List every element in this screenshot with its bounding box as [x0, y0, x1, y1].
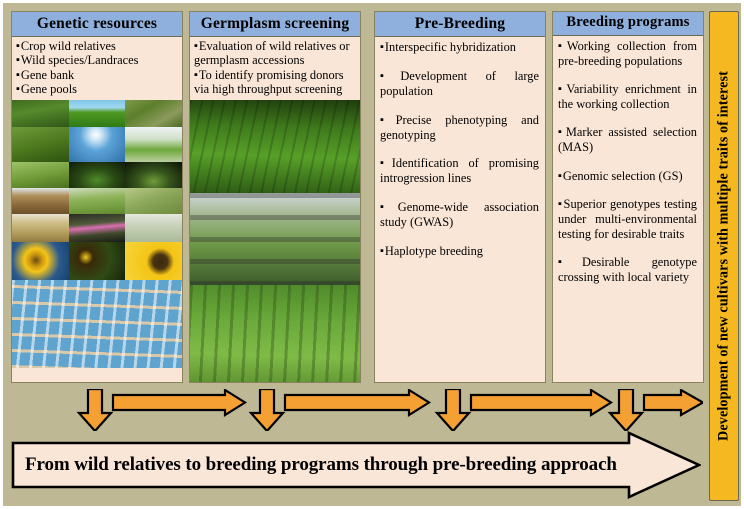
dry-seed-heap-photo — [12, 188, 69, 214]
right-arrow-icon — [113, 390, 245, 415]
panel-breeding-programs: Breeding programs Working collection fro… — [552, 11, 704, 383]
list-item: Gene pools — [16, 82, 178, 96]
flow-arrow-svg — [3, 389, 703, 431]
paddy-field-photo — [69, 100, 126, 127]
panel-pre-breeding: Pre-Breeding Interspecific hybridization… — [374, 11, 546, 383]
outcome-sidebar-text: Development of new cultivars with multip… — [716, 71, 733, 441]
photo-row — [12, 242, 182, 280]
outcome-sidebar: Development of new cultivars with multip… — [709, 11, 739, 501]
list-item: Wild species/Landraces — [16, 53, 178, 67]
sunflower-cluster-photo — [69, 242, 126, 280]
list-item: Crop wild relatives — [16, 39, 178, 53]
photo-row — [12, 162, 182, 188]
pre-breeding-workflow-figure: Genetic resources Crop wild relatives Wi… — [0, 0, 744, 509]
sugarcane-sun-photo — [69, 127, 126, 162]
photo-collage-germplasm-screening — [190, 100, 360, 382]
dark-grass-tussock-photo — [69, 162, 126, 188]
list-item: Gene bank — [16, 68, 178, 82]
wild-cereal-photo — [12, 127, 69, 162]
list-item: Genome-wide association study (GWAS) — [380, 200, 539, 230]
list-item: Working collection from pre-breeding pop… — [558, 39, 697, 68]
down-arrow-icon — [251, 389, 283, 431]
bullet-list-pre-breeding: Interspecific hybridization Development … — [380, 40, 539, 259]
seed-pile-photo — [12, 214, 69, 242]
list-item: Marker assisted selection (MAS) — [558, 125, 697, 154]
panel-genetic-resources: Genetic resources Crop wild relatives Wi… — [11, 11, 183, 383]
photo-row — [12, 214, 182, 242]
list-item: Genomic selection (GS) — [558, 169, 697, 184]
list-item: Identification of promising introgressio… — [380, 156, 539, 186]
list-item: Haplotype breeding — [380, 244, 539, 259]
rice-seedling-tray-photo — [125, 127, 182, 162]
sunflower-head-photo — [125, 242, 182, 280]
list-item: Development of large population — [380, 69, 539, 99]
night-grass-clump-photo — [125, 162, 182, 188]
bullet-list-genetic-resources: Crop wild relatives Wild species/Landrac… — [16, 39, 178, 97]
panel-title-breeding-programs: Breeding programs — [553, 12, 703, 36]
list-item: Evaluation of wild relatives or germplas… — [194, 39, 356, 68]
photo-row — [190, 285, 360, 382]
grass-field-photo — [12, 100, 69, 127]
panel-title-genetic-resources: Genetic resources — [12, 12, 182, 37]
panel-title-pre-breeding: Pre-Breeding — [375, 12, 545, 37]
list-item: Precise phenotyping and genotyping — [380, 113, 539, 143]
panel-body-breeding-programs: Working collection from pre-breeding pop… — [553, 36, 703, 382]
banner-text: From wild relatives to breeding programs… — [25, 431, 605, 499]
grass-field-rows-photo — [125, 188, 182, 214]
list-item: Desirable genotype crossing with local v… — [558, 255, 697, 284]
process-flow-arrows — [3, 389, 703, 431]
panel-body-germplasm-screening: Evaluation of wild relatives or germplas… — [190, 37, 360, 100]
pink-flower-night-photo — [69, 214, 126, 242]
young-crop-rows-field-photo — [190, 285, 360, 382]
summary-banner-arrow: From wild relatives to breeding programs… — [11, 431, 701, 499]
down-arrow-icon — [79, 389, 111, 431]
seedling-nursery-field-photo — [190, 100, 360, 193]
sunflower-single-photo — [12, 242, 69, 280]
down-arrow-icon — [437, 389, 469, 431]
list-item: Variability enrichment in the working co… — [558, 82, 697, 111]
down-arrow-icon — [610, 389, 642, 431]
greenhouse-seedling-trays-photo — [190, 193, 360, 285]
bullet-list-germplasm-screening: Evaluation of wild relatives or germplas… — [194, 39, 356, 97]
panel-germplasm-screening: Germplasm screening Evaluation of wild r… — [189, 11, 361, 383]
photo-row — [190, 193, 360, 285]
pale-grass-field-photo — [125, 214, 182, 242]
photo-row — [12, 127, 182, 162]
right-arrow-icon — [471, 390, 611, 415]
photo-row — [190, 100, 360, 193]
right-arrow-icon — [644, 390, 703, 415]
photo-row — [12, 100, 182, 127]
green-grass-clump-photo — [12, 162, 69, 188]
bullet-list-breeding-programs: Working collection from pre-breeding pop… — [558, 39, 697, 285]
list-item: To identify promising donors via high th… — [194, 68, 356, 97]
panel-body-pre-breeding: Interspecific hybridization Development … — [375, 37, 545, 382]
right-arrow-icon — [285, 390, 429, 415]
photo-row — [12, 188, 182, 214]
list-item: Interspecific hybridization — [380, 40, 539, 55]
green-grain-heads-photo — [69, 188, 126, 214]
wild-grass-row-photo — [125, 100, 182, 127]
photo-collage-genetic-resources — [12, 100, 182, 382]
panel-body-genetic-resources: Crop wild relatives Wild species/Landrac… — [12, 37, 182, 100]
list-item: Superior genotypes testing under multi-e… — [558, 197, 697, 241]
photo-row — [12, 280, 182, 368]
gene-bank-shelving-photo — [12, 280, 182, 368]
panel-title-germplasm-screening: Germplasm screening — [190, 12, 360, 37]
